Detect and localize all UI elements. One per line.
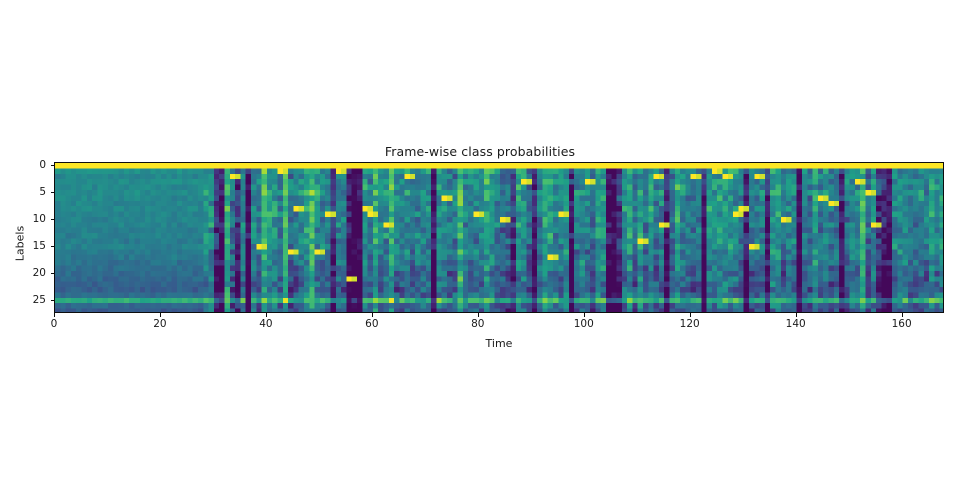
x-tick-mark [266, 313, 267, 317]
x-axis-label: Time [54, 337, 944, 350]
x-tick-label: 80 [471, 318, 484, 330]
y-tick-mark [51, 273, 55, 274]
x-tick-mark [372, 313, 373, 317]
page-title: Frame-wise class probabilities [0, 144, 960, 159]
x-tick-mark [584, 313, 585, 317]
y-tick-mark [51, 246, 55, 247]
y-tick-label: 25 [14, 294, 46, 306]
heatmap-image [55, 163, 944, 313]
y-tick-mark [51, 300, 55, 301]
x-tick-label: 100 [574, 318, 594, 330]
x-tick-label: 60 [365, 318, 378, 330]
y-tick-label: 5 [14, 186, 46, 198]
x-tick-mark [54, 313, 55, 317]
x-tick-label: 20 [153, 318, 166, 330]
x-tick-label: 120 [680, 318, 700, 330]
x-tick-label: 160 [892, 318, 912, 330]
x-tick-label: 40 [259, 318, 272, 330]
x-tick-mark [902, 313, 903, 317]
x-tick-mark [690, 313, 691, 317]
x-tick-label: 140 [786, 318, 806, 330]
x-tick-mark [160, 313, 161, 317]
x-tick-mark [796, 313, 797, 317]
x-tick-mark [478, 313, 479, 317]
x-tick-label: 0 [51, 318, 58, 330]
figure-canvas: Frame-wise class probabilities 020406080… [0, 0, 960, 480]
y-tick-mark [51, 192, 55, 193]
y-tick-mark [51, 165, 55, 166]
y-tick-mark [51, 219, 55, 220]
heatmap-plot [54, 162, 944, 313]
y-tick-label: 0 [14, 159, 46, 171]
y-axis-label: Labels [14, 204, 27, 284]
